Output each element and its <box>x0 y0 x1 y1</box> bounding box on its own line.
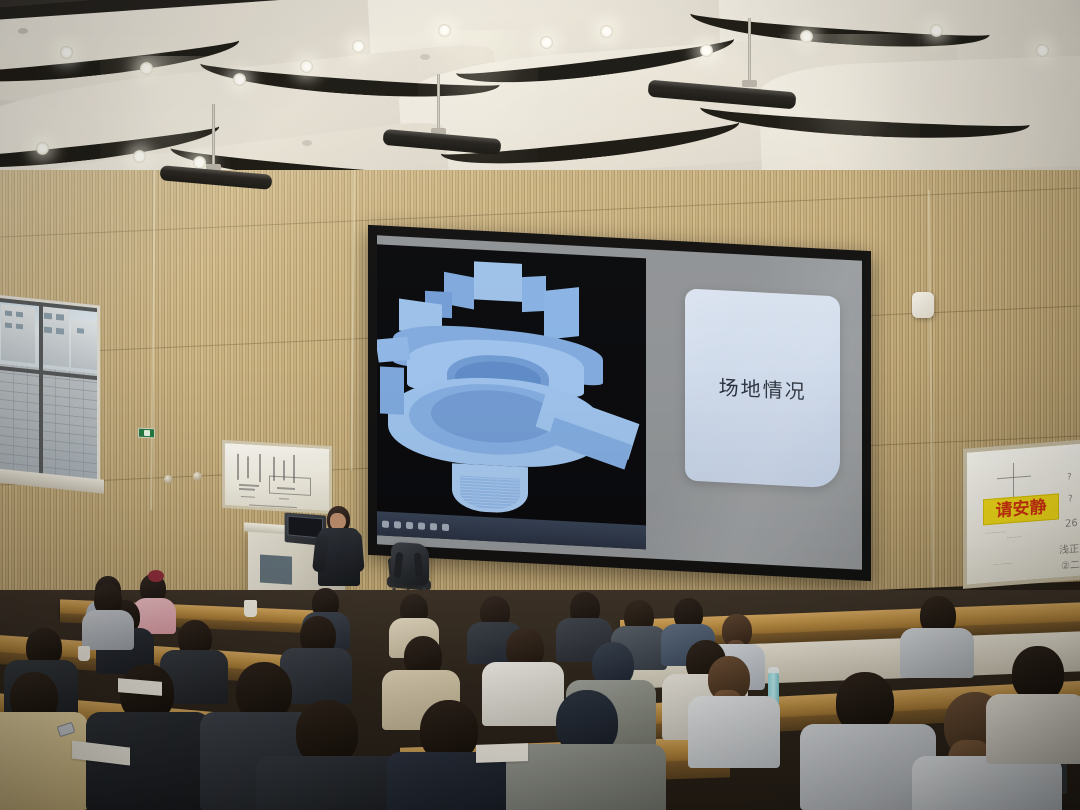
ceiling-downlight <box>60 46 73 59</box>
ceiling-downlight <box>540 36 553 49</box>
quiet-sign: 请安静 <box>983 493 1059 525</box>
whiteboard-left <box>222 440 332 514</box>
wall-fixing-icon <box>164 475 173 484</box>
whiteboard-note-2: ②二 <box>1061 556 1080 572</box>
cup <box>78 646 90 661</box>
wall-speaker-icon <box>912 292 934 318</box>
rotate-icon[interactable] <box>418 522 425 529</box>
slide-model-image <box>377 245 646 550</box>
3d-amphitheatre-model <box>377 245 646 550</box>
whiteboard-right: 请安静 ············· ········· 26 ? ? 浅正面 ②… <box>963 439 1080 589</box>
paper-sheet <box>476 743 528 763</box>
brush-icon[interactable] <box>382 520 389 527</box>
scale-icon[interactable] <box>430 523 437 530</box>
layers-icon[interactable] <box>394 521 401 528</box>
display-screen: 场地情况 <box>377 235 862 569</box>
ceiling-downlight <box>1036 44 1049 57</box>
lecture-hall-photo: 请安静 ············· ········· 26 ? ? 浅正面 ②… <box>0 0 1080 810</box>
whiteboard-note-1: 浅正面 <box>1059 539 1080 556</box>
ceiling-sensor-icon <box>18 28 28 34</box>
ceiling-downlight <box>233 73 246 86</box>
backpack-on-chair <box>391 542 429 587</box>
presentation-display[interactable]: 场地情况 <box>368 225 871 581</box>
window <box>0 295 100 486</box>
ceiling-downlight <box>193 156 206 169</box>
ceiling-downlight <box>133 150 146 163</box>
quiet-sign-text: 请安静 <box>996 499 1047 520</box>
ceiling-downlight <box>600 25 613 38</box>
ceiling-downlight <box>800 30 813 43</box>
ceiling-downlight <box>36 142 49 155</box>
cup <box>244 600 257 617</box>
ceiling-downlight <box>300 60 313 73</box>
move-icon[interactable] <box>406 521 413 528</box>
slide-heading-text: 场地情况 <box>719 372 807 406</box>
camera-icon[interactable] <box>442 523 449 530</box>
ceiling-sensor-icon <box>302 140 312 146</box>
wall-fixing-icon <box>193 472 202 481</box>
ceiling-downlight <box>700 44 713 57</box>
ceiling-downlight <box>930 24 943 37</box>
whiteboard-note-26: 26 <box>1065 518 1078 530</box>
ceiling-sensor-icon <box>420 54 430 60</box>
exit-sign-icon <box>138 428 155 439</box>
ceiling-downlight <box>438 24 451 37</box>
ceiling-downlight <box>140 62 153 75</box>
slide-heading-card: 场地情况 <box>685 289 840 489</box>
ceiling-downlight <box>352 40 365 53</box>
